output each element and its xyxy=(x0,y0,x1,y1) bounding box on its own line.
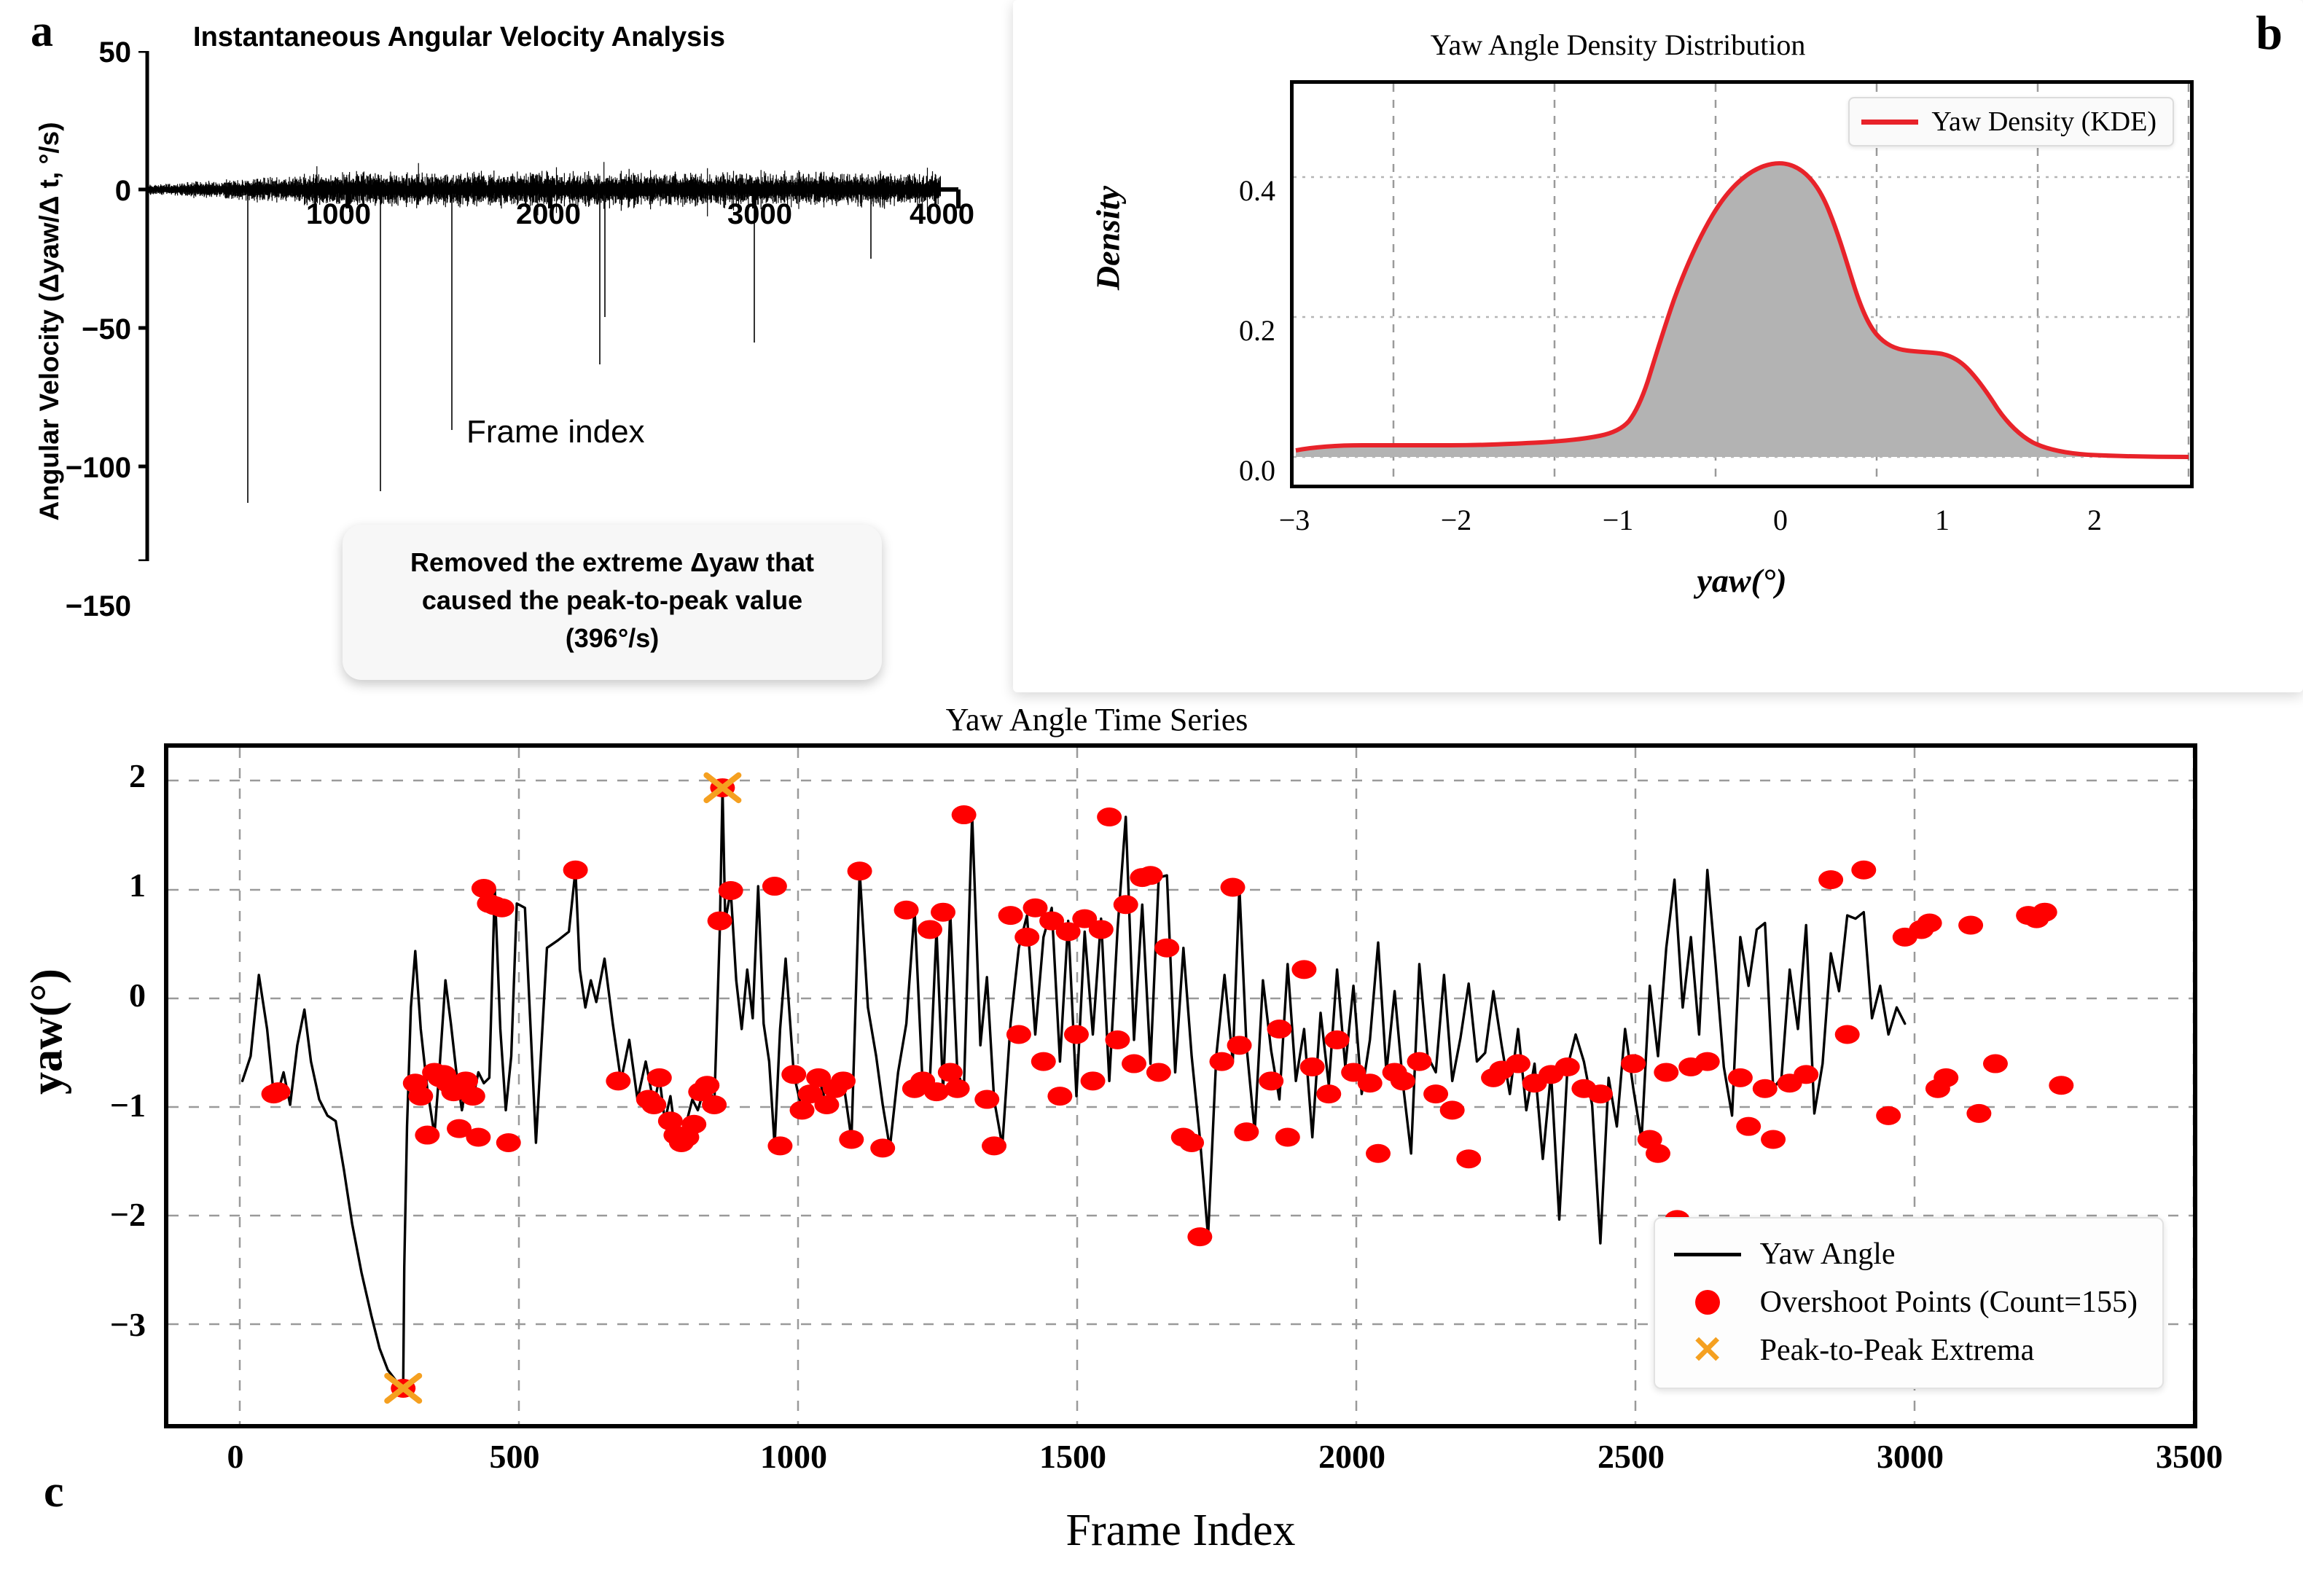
legend-label-overshoot: Overshoot Points (Count=155) xyxy=(1760,1285,2138,1320)
panel-a-annotation-line-2: caused the peak-to-peak value xyxy=(360,582,864,619)
overshoot-point xyxy=(1105,1030,1130,1049)
panel-a-ytick: 0 xyxy=(115,175,131,208)
overshoot-point xyxy=(2049,1076,2073,1095)
overshoot-point xyxy=(1291,960,1316,979)
overshoot-point xyxy=(952,805,977,824)
panel-c-label: c xyxy=(44,1466,64,1518)
overshoot-point xyxy=(1138,866,1163,885)
overshoot-point xyxy=(1209,1052,1234,1071)
overshoot-point xyxy=(1006,1025,1031,1044)
overshoot-point xyxy=(1146,1063,1171,1081)
overshoot-point xyxy=(790,1100,815,1119)
overshoot-point xyxy=(1876,1106,1901,1125)
overshoot-point xyxy=(408,1087,433,1106)
overshoot-point xyxy=(1794,1065,1818,1084)
panel-c-xtick: 2000 xyxy=(1297,1437,1407,1476)
panel-c-title: Yaw Angle Time Series xyxy=(0,701,2194,738)
panel-a-extreme-spikes xyxy=(248,189,871,503)
overshoot-point xyxy=(1187,1227,1212,1246)
panel-c-x-axis-label: Frame Index xyxy=(164,1505,2197,1557)
overshoot-point xyxy=(1259,1071,1283,1090)
overshoot-point xyxy=(647,1068,672,1087)
overshoot-point xyxy=(1114,895,1138,914)
panel-a-y-spine xyxy=(138,51,147,561)
overshoot-point xyxy=(719,881,743,900)
panel-c-legend[interactable]: Yaw Angle Overshoot Points (Count=155) ✕… xyxy=(1654,1217,2164,1389)
panel-b-density-card: b Yaw Angle Density Distribution Density… xyxy=(1013,0,2303,692)
panel-b-xtick: −1 xyxy=(1567,503,1669,537)
overshoot-point xyxy=(982,1136,1006,1155)
panel-b-plot-area: Yaw Density (KDE) xyxy=(1290,80,2194,488)
kde-line-swatch-icon xyxy=(1861,120,1918,125)
overshoot-point xyxy=(1154,939,1179,958)
overshoot-point xyxy=(490,899,515,918)
overshoot-point xyxy=(1933,1068,1958,1087)
overshoot-point xyxy=(2033,903,2057,922)
overshoot-point xyxy=(496,1133,521,1152)
legend-label-yaw-angle: Yaw Angle xyxy=(1760,1237,1896,1272)
overshoot-point xyxy=(831,1071,856,1090)
overshoot-point xyxy=(1391,1071,1415,1090)
overshoot-point xyxy=(1646,1144,1670,1163)
panel-a-ytick: −100 xyxy=(66,452,131,485)
overshoot-point xyxy=(1456,1149,1481,1168)
overshoot-point xyxy=(848,861,872,880)
overshoot-point xyxy=(894,901,919,920)
overshoot-point xyxy=(1122,1055,1146,1073)
overshoot-point xyxy=(781,1065,806,1084)
overshoot-point xyxy=(1234,1122,1259,1141)
panel-b-legend[interactable]: Yaw Density (KDE) xyxy=(1848,97,2174,146)
overshoot-point xyxy=(1818,870,1843,889)
panel-b-legend-label: Yaw Density (KDE) xyxy=(1931,106,2157,138)
panel-a-annotation-box: Removed the extreme Δyaw that caused the… xyxy=(343,525,882,680)
overshoot-point xyxy=(1753,1079,1778,1098)
legend-label-extrema: Peak-to-Peak Extrema xyxy=(1760,1333,2035,1368)
overshoot-point xyxy=(1736,1117,1761,1136)
panel-a-angular-velocity: a Instantaneous Angular Velocity Analysi… xyxy=(0,0,1020,700)
overshoot-dot-swatch-icon xyxy=(1674,1290,1741,1315)
panel-c-time-series: Yaw Angle Time Series yaw(°) c 2 1 0 −1 … xyxy=(0,692,2303,1596)
panel-c-xtick: 1500 xyxy=(1018,1437,1127,1476)
legend-row-overshoot: Overshoot Points (Count=155) xyxy=(1674,1278,2138,1326)
overshoot-point xyxy=(266,1082,291,1101)
overshoot-point xyxy=(931,903,955,922)
overshoot-point xyxy=(1227,1036,1252,1055)
panel-c-ytick: 1 xyxy=(15,866,146,904)
overshoot-point xyxy=(1440,1100,1465,1119)
overshoot-point xyxy=(998,906,1023,925)
overshoot-point xyxy=(1654,1063,1678,1081)
panel-c-ytick: 2 xyxy=(15,756,146,795)
panel-a-title: Instantaneous Angular Velocity Analysis xyxy=(109,22,809,53)
overshoot-point xyxy=(1358,1073,1383,1092)
legend-row-extrema: ✕ Peak-to-Peak Extrema xyxy=(1674,1326,2138,1374)
panel-b-title: Yaw Angle Density Distribution xyxy=(1013,28,2223,62)
overshoot-point xyxy=(1275,1128,1300,1147)
overshoot-point xyxy=(1316,1084,1341,1103)
overshoot-point xyxy=(1047,1087,1072,1106)
overshoot-point xyxy=(1097,807,1122,826)
panel-a-x-axis-label: Frame index xyxy=(466,414,645,450)
panel-b-x-axis-label: yaw(°) xyxy=(1290,561,2194,600)
overshoot-point xyxy=(1031,1052,1056,1071)
panel-c-ytick: 0 xyxy=(15,976,146,1014)
overshoot-point xyxy=(1267,1020,1292,1038)
yaw-line-swatch-icon xyxy=(1674,1253,1741,1256)
overshoot-point xyxy=(1064,1025,1089,1044)
panel-a-stem-path xyxy=(149,162,940,216)
overshoot-point xyxy=(695,1076,719,1095)
panel-b-kde-fill xyxy=(1296,163,2189,457)
overshoot-point xyxy=(1423,1084,1448,1103)
overshoot-point xyxy=(606,1071,630,1090)
overshoot-point xyxy=(461,1087,485,1106)
overshoot-point xyxy=(415,1126,439,1145)
panel-a-annotation-line-3: (396°/s) xyxy=(360,619,864,657)
overshoot-point xyxy=(924,1082,949,1101)
overshoot-point xyxy=(839,1130,864,1149)
panel-a-plot xyxy=(138,51,984,561)
panel-c-ytick: −1 xyxy=(15,1086,146,1124)
legend-row-yaw-angle: Yaw Angle xyxy=(1674,1230,2138,1278)
overshoot-point xyxy=(1300,1057,1325,1076)
overshoot-point xyxy=(1588,1084,1613,1103)
panel-a-annotation-line-1: Removed the extreme Δyaw that xyxy=(360,544,864,582)
overshoot-point xyxy=(1089,920,1114,939)
panel-a-ytick: −50 xyxy=(82,313,131,346)
panel-c-xtick: 1000 xyxy=(739,1437,848,1476)
overshoot-point xyxy=(1728,1068,1753,1087)
panel-b-xtick: 0 xyxy=(1729,503,1831,537)
panel-b-ytick: 0.4 xyxy=(1159,173,1275,208)
overshoot-point xyxy=(1506,1055,1530,1073)
overshoot-point xyxy=(1835,1025,1860,1044)
overshoot-point xyxy=(767,1136,792,1155)
panel-b-xtick: −3 xyxy=(1243,503,1345,537)
overshoot-point xyxy=(762,877,787,896)
overshoot-point xyxy=(1555,1057,1580,1076)
overshoot-point xyxy=(974,1090,999,1109)
panel-a-velocity-stems xyxy=(149,162,940,216)
overshoot-point xyxy=(1081,1071,1106,1090)
overshoot-point xyxy=(1621,1055,1646,1073)
overshoot-point xyxy=(938,1063,963,1081)
extrema-x-swatch-icon: ✕ xyxy=(1674,1336,1741,1365)
panel-b-xtick: 2 xyxy=(2044,503,2146,537)
panel-a-ytick: −150 xyxy=(66,590,131,623)
panel-b-ytick: 0.2 xyxy=(1159,313,1275,348)
overshoot-point xyxy=(563,861,588,880)
overshoot-point xyxy=(1983,1055,2008,1073)
panel-c-y-axis-label: yaw(°) xyxy=(22,875,74,1189)
overshoot-point xyxy=(702,1095,727,1114)
overshoot-point xyxy=(814,1095,839,1114)
panel-c-xtick: 3000 xyxy=(1856,1437,1965,1476)
overshoot-point xyxy=(1221,878,1246,897)
overshoot-point xyxy=(681,1115,706,1134)
overshoot-point xyxy=(1966,1104,1991,1123)
overshoot-point xyxy=(1366,1144,1391,1163)
overshoot-point xyxy=(918,920,942,939)
overshoot-point xyxy=(1014,928,1039,947)
panel-a-y-ticks: 50 0 −50 −100 −150 xyxy=(0,0,131,700)
panel-c-xtick: 2500 xyxy=(1576,1437,1686,1476)
panel-a-ytick: 50 xyxy=(99,36,132,69)
overshoot-point xyxy=(466,1128,490,1147)
panel-c-xtick: 0 xyxy=(181,1437,290,1476)
panel-b-xtick: −2 xyxy=(1405,503,1507,537)
overshoot-point xyxy=(945,1079,970,1098)
panel-c-ytick: −2 xyxy=(15,1195,146,1234)
panel-b-y-axis-label: Density xyxy=(1089,118,1127,359)
overshoot-point xyxy=(1695,1052,1720,1071)
panel-b-label: b xyxy=(2256,6,2283,61)
overshoot-point xyxy=(1761,1130,1786,1149)
overshoot-point xyxy=(641,1095,666,1114)
overshoot-point xyxy=(1851,861,1876,880)
overshoot-point xyxy=(1179,1133,1204,1152)
overshoot-point xyxy=(870,1138,895,1157)
panel-c-xtick: 3500 xyxy=(2135,1437,2244,1476)
panel-c-ytick: −3 xyxy=(15,1305,146,1344)
panel-b-xtick: 1 xyxy=(1891,503,1993,537)
overshoot-point xyxy=(1407,1052,1431,1071)
overshoot-point xyxy=(1325,1030,1350,1049)
overshoot-point xyxy=(1958,916,1983,935)
panel-c-plot-area: Yaw Angle Overshoot Points (Count=155) ✕… xyxy=(164,743,2197,1428)
panel-b-ytick: 0.0 xyxy=(1159,453,1275,488)
overshoot-point xyxy=(1917,914,1942,933)
overshoot-point xyxy=(708,912,732,931)
panel-c-xtick: 500 xyxy=(460,1437,569,1476)
